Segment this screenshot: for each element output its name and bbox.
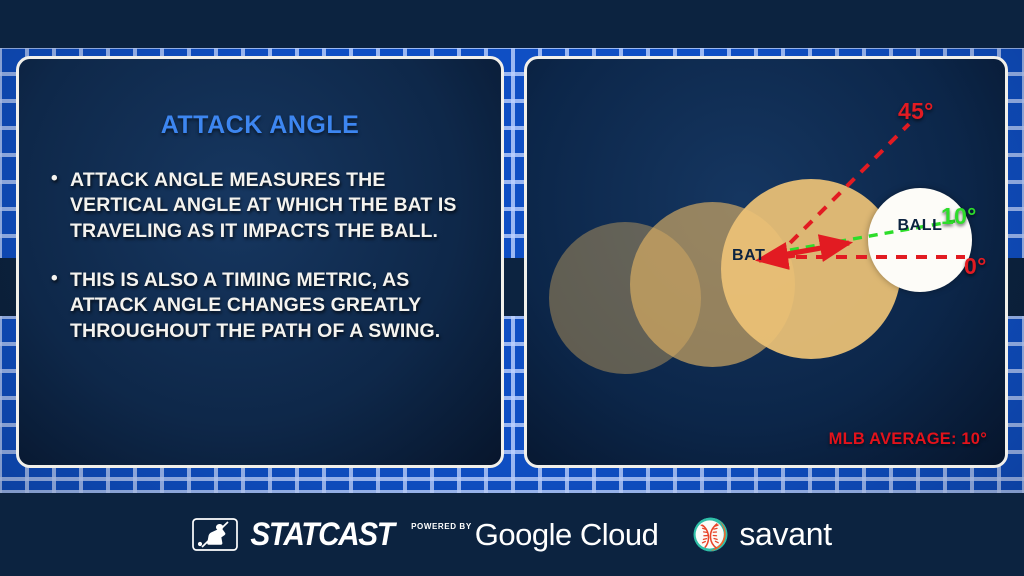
list-item: ATTACK ANGLE MEASURES THE VERTICAL ANGLE… <box>51 168 471 244</box>
mlb-logo-icon <box>192 518 238 551</box>
attack-angle-diagram: BAT BALL 45° 10° 0° MLB AVERAGE: 10° <box>527 59 1005 465</box>
slide-stage: ATTACK ANGLE ATTACK ANGLE MEASURES THE V… <box>0 0 1024 576</box>
angle-label-45: 45° <box>898 98 934 125</box>
statcast-wordmark: STATCAST <box>251 516 394 553</box>
bat-label: BAT <box>732 247 766 265</box>
baseball-savant-logo-lockup: savant <box>692 516 831 553</box>
top-navy-band <box>0 0 1024 48</box>
footer-logo-bar: STATCAST POWERED BY Google Cloud <box>0 493 1024 576</box>
google-cloud-wordmark: Google Cloud <box>475 517 659 553</box>
diagram-panel: BAT BALL 45° 10° 0° MLB AVERAGE: 10° <box>524 56 1008 468</box>
baseball-icon <box>692 516 729 553</box>
bullet-body-text: THIS IS ALSO A TIMING METRIC, AS ATTACK … <box>70 269 440 342</box>
forty-five-degree-ray <box>776 124 909 257</box>
angle-label-10: 10° <box>941 203 977 230</box>
page-title: ATTACK ANGLE <box>45 111 475 140</box>
bullet-lead-term: ATTACK ANGLE <box>70 169 224 191</box>
savant-wordmark: savant <box>739 516 831 553</box>
angle-label-0: 0° <box>964 253 987 280</box>
angle-rays-svg <box>527 59 1008 468</box>
text-panel: ATTACK ANGLE ATTACK ANGLE MEASURES THE V… <box>16 56 504 468</box>
text-panel-content: ATTACK ANGLE ATTACK ANGLE MEASURES THE V… <box>19 59 501 465</box>
statcast-google-cloud-logo-lockup: STATCAST POWERED BY Google Cloud <box>192 516 658 553</box>
list-item: THIS IS ALSO A TIMING METRIC, AS ATTACK … <box>51 268 471 344</box>
bullet-list: ATTACK ANGLE MEASURES THE VERTICAL ANGLE… <box>45 168 475 344</box>
mlb-average-footnote: MLB AVERAGE: 10° <box>829 430 987 449</box>
powered-by-label: POWERED BY <box>411 522 472 531</box>
